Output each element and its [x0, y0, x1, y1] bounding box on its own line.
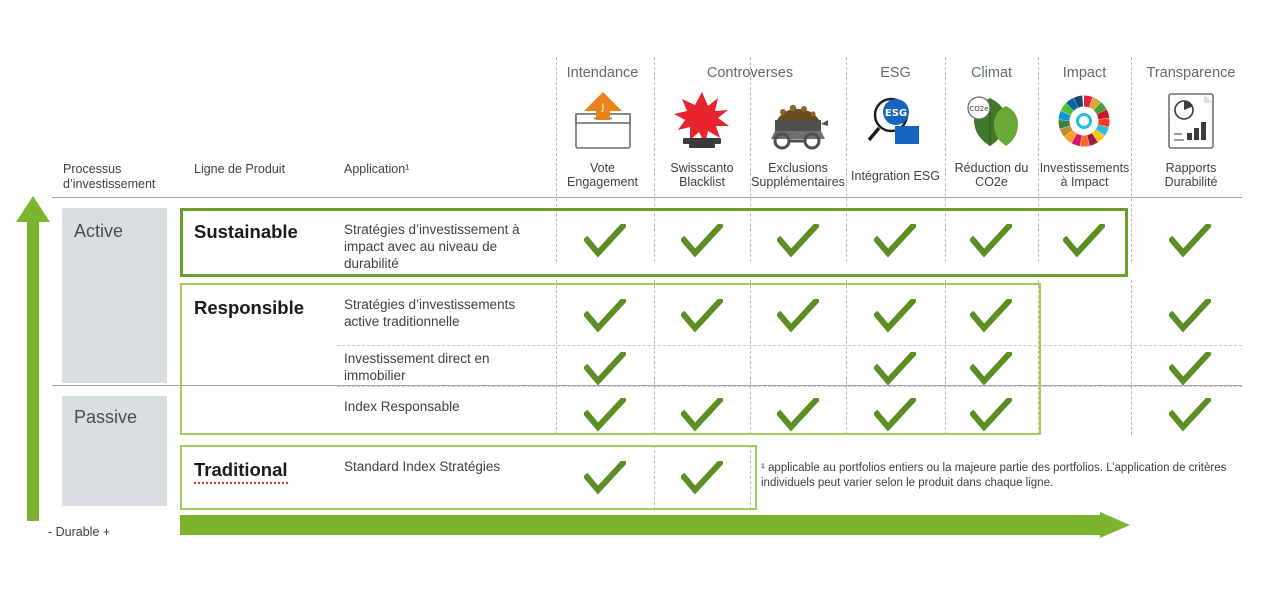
esg-magnifier-icon: ESG — [865, 90, 927, 152]
coverage-axis-arrow — [180, 512, 1130, 543]
product-line-traditional: Traditional — [194, 459, 288, 484]
caption-line-2: Supplémentaires — [750, 175, 846, 189]
column-group-intendance: Intendance — [551, 65, 654, 81]
band-active-label: Active — [74, 221, 123, 242]
column-group-impact: Impact — [1038, 65, 1131, 81]
check-index-swisscanto — [681, 398, 721, 432]
caption-line-2: CO2e — [945, 175, 1038, 189]
column-group-transparence: Transparence — [1131, 65, 1251, 81]
check-index-vote — [584, 398, 624, 432]
caption-line-1: Vote — [551, 161, 654, 175]
product-line-sustainable: Sustainable — [194, 221, 298, 243]
check-sustainable-swisscanto — [681, 224, 721, 258]
col-divider-7b — [1131, 280, 1132, 435]
coal-truck-icon — [767, 90, 829, 152]
check-responsible-climat — [970, 299, 1010, 333]
col-divider-7 — [1131, 57, 1132, 262]
co2-badge-text: CO2e — [969, 105, 988, 113]
application-immobilier: Investissement direct en immobilier — [344, 350, 554, 384]
footnote: ¹ applicable au portfolios entiers ou la… — [761, 461, 1251, 491]
explosion-icon — [671, 90, 733, 152]
co2-leaves-icon: CO2e — [960, 90, 1022, 152]
header-process: Processus d’investissement — [63, 162, 183, 192]
caption-line-1: Investissements — [1032, 161, 1137, 175]
esg-badge-text: ESG — [885, 108, 907, 119]
caption-line-1: Exclusions — [750, 161, 846, 175]
check-responsible-exclusions — [777, 299, 817, 333]
caption-line-1: Réduction du — [945, 161, 1038, 175]
column-caption-exclusions: Exclusions Supplémentaires — [750, 161, 846, 189]
application-responsible-active: Stratégies d’investissements active trad… — [344, 296, 554, 330]
band-passive-label: Passive — [74, 407, 137, 428]
column-caption-esg: Intégration ESG — [842, 169, 949, 183]
header-application: Application¹ — [344, 162, 504, 177]
check-responsible-vote — [584, 299, 624, 333]
report-chart-icon — [1160, 90, 1222, 152]
caption-line-2: à Impact — [1032, 175, 1137, 189]
caption-line-1: Rapports — [1131, 161, 1251, 175]
diagram-canvas: Intendance Controverses ESG Climat Impac… — [0, 0, 1283, 596]
check-immobilier-climat — [970, 352, 1010, 386]
caption-line-2: Blacklist — [654, 175, 750, 189]
check-responsible-transparence — [1169, 299, 1209, 333]
ballot-box-icon: J — [572, 90, 634, 152]
check-sustainable-climat — [970, 224, 1010, 258]
application-sustainable: Stratégies d’investissement à impact ave… — [344, 221, 544, 272]
sdg-wheel-icon — [1053, 90, 1115, 152]
column-group-climat: Climat — [945, 65, 1038, 81]
column-caption-transparence: Rapports Durabilité — [1131, 161, 1251, 189]
caption-line-1: Intégration ESG — [842, 169, 949, 183]
column-caption-impact: Investissements à Impact — [1032, 161, 1137, 189]
column-caption-vote: Vote Engagement — [551, 161, 654, 189]
header-divider — [52, 197, 1242, 198]
column-caption-climat: Réduction du CO2e — [945, 161, 1038, 189]
header-process-line1: Processus — [63, 162, 183, 177]
check-traditional-vote — [584, 461, 624, 495]
application-index-responsable: Index Responsable — [344, 398, 554, 415]
column-group-esg: ESG — [846, 65, 945, 81]
application-standard-index: Standard Index Stratégies — [344, 458, 574, 475]
column-caption-swisscanto: Swisscanto Blacklist — [654, 161, 750, 189]
header-process-line2: d’investissement — [63, 177, 183, 192]
check-immobilier-esg — [874, 352, 914, 386]
product-line-responsible: Responsible — [194, 297, 304, 319]
check-immobilier-vote — [584, 352, 624, 386]
check-immobilier-transparence — [1169, 352, 1209, 386]
check-sustainable-esg — [874, 224, 914, 258]
check-sustainable-impact — [1063, 224, 1103, 258]
check-index-climat — [970, 398, 1010, 432]
header-product-line: Ligne de Produit — [194, 162, 334, 177]
check-responsible-esg — [874, 299, 914, 333]
sustainability-axis-arrow — [14, 196, 52, 526]
check-sustainable-exclusions — [777, 224, 817, 258]
caption-line-2: Durabilité — [1131, 175, 1251, 189]
check-traditional-swisscanto — [681, 461, 721, 495]
check-index-esg — [874, 398, 914, 432]
caption-line-2: Engagement — [551, 175, 654, 189]
check-responsible-swisscanto — [681, 299, 721, 333]
check-index-exclusions — [777, 398, 817, 432]
check-sustainable-transparence — [1169, 224, 1209, 258]
check-index-transparence — [1169, 398, 1209, 432]
check-sustainable-vote — [584, 224, 624, 258]
caption-line-1: Swisscanto — [654, 161, 750, 175]
axis-caption: - Durable + — [48, 525, 110, 539]
svg-text:J: J — [601, 103, 605, 113]
